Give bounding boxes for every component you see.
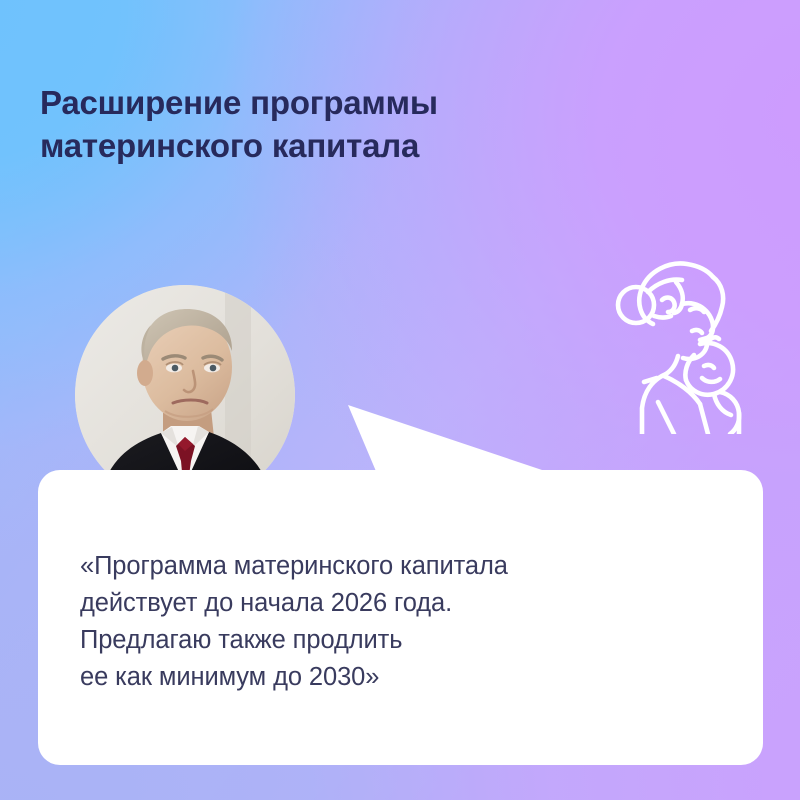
quote-text: «Программа материнского капитала действу… <box>80 548 720 696</box>
poster-card: Расширение программы материнского капита… <box>0 0 800 800</box>
page-title: Расширение программы материнского капита… <box>40 82 660 168</box>
speech-bubble: «Программа материнского капитала действу… <box>38 470 763 765</box>
mother-with-baby-icon <box>612 252 764 434</box>
